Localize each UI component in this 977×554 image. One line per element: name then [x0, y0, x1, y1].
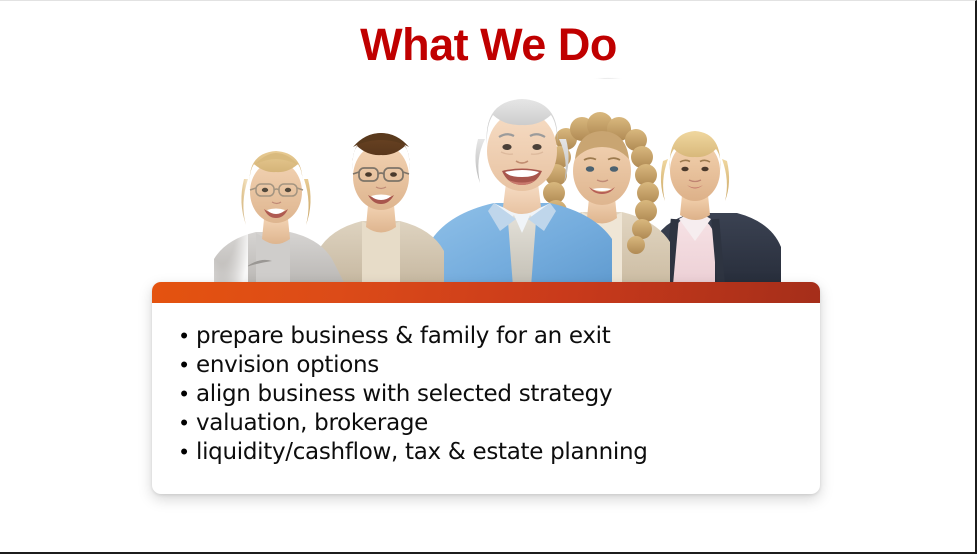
list-item-label: align business with selected strategy [192, 380, 612, 409]
list-item: • envision options [152, 350, 820, 379]
list-item-label: valuation, brokerage [192, 409, 428, 438]
list-item: • prepare business & family for an exit [152, 321, 820, 350]
bullet-icon: • [152, 437, 192, 466]
team-photo [196, 79, 806, 294]
list-item: • liquidity/cashflow, tax & estate plann… [152, 437, 820, 466]
bullet-list: • prepare business & family for an exit … [152, 303, 820, 466]
bullet-icon: • [152, 321, 192, 350]
card-accent-bar [152, 282, 820, 303]
bullet-icon: • [152, 379, 192, 408]
list-item-label: prepare business & family for an exit [192, 322, 611, 351]
bullet-icon: • [152, 408, 192, 437]
page-title: What We Do [0, 19, 977, 71]
list-item-label: envision options [192, 351, 379, 380]
content-card: • prepare business & family for an exit … [152, 282, 820, 494]
slide-canvas: What We Do [0, 0, 977, 554]
bullet-icon: • [152, 350, 192, 379]
list-item: • align business with selected strategy [152, 379, 820, 408]
list-item-label: liquidity/cashflow, tax & estate plannin… [192, 438, 648, 467]
list-item: • valuation, brokerage [152, 408, 820, 437]
